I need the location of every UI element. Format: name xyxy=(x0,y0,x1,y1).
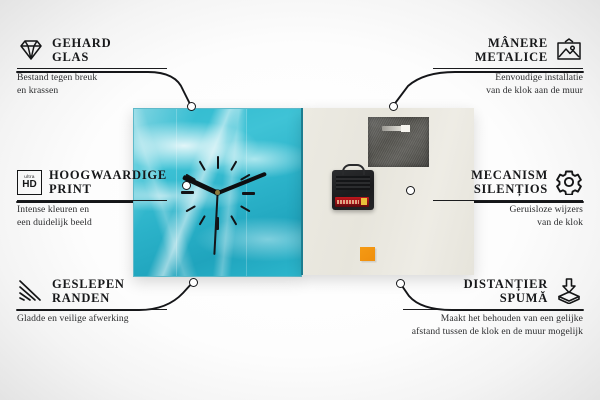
mechanism-vents xyxy=(336,176,370,190)
feature-rule xyxy=(17,68,167,70)
feature-desc: Maakt het behouden van een gelijkeafstan… xyxy=(403,313,583,338)
feather-seam xyxy=(176,109,177,276)
feature-desc: Eenvoudige installatievan de klok aan de… xyxy=(433,72,583,97)
battery xyxy=(335,197,369,207)
feature-title: GEHARDGLAS xyxy=(52,36,111,65)
feature-rule xyxy=(433,68,583,70)
battery-terminal xyxy=(361,198,367,205)
feature-title: HOOGWAARDIGEPRINT xyxy=(49,168,167,197)
feature-hoogwaardige-print: ultra HD HOOGWAARDIGEPRINT Intense kleur… xyxy=(17,168,167,229)
callout-dot xyxy=(187,102,196,111)
callout-dot xyxy=(389,102,398,111)
infographic-canvas: GEHARDGLAS Bestand tegen breuken krassen… xyxy=(0,0,600,400)
callout-dot xyxy=(189,278,198,287)
feature-desc: Gladde en veilige afwerking xyxy=(17,313,167,325)
callout-dot xyxy=(182,181,191,190)
gear-icon xyxy=(555,169,583,195)
foam-spacer xyxy=(360,247,375,261)
feature-distantier-spuma: DISTANȚIERSPUMĂ Maakt het behouden van e… xyxy=(403,277,583,338)
ultra-hd-icon: ultra HD xyxy=(17,170,42,195)
clock-mechanism xyxy=(332,170,374,210)
feature-mecanism-silentios: MECANISMSILENȚIOS Geruisloze wijzersvan … xyxy=(433,168,583,229)
feature-desc: Intense kleuren eneen duidelijk beeld xyxy=(17,204,167,229)
clock-center-pin xyxy=(215,190,220,195)
feature-rule xyxy=(17,309,167,311)
metal-hanger-icon xyxy=(368,117,429,167)
feature-rule xyxy=(403,309,583,311)
feature-geslepen-randen: GESLEPENRANDEN Gladde en veilige afwerki… xyxy=(17,277,167,326)
feature-rule xyxy=(433,200,583,202)
mechanism-hook xyxy=(342,164,365,175)
feature-title: MECANISMSILENȚIOS xyxy=(471,168,548,197)
battery-label xyxy=(337,200,359,204)
hanger-slot-highlight xyxy=(401,125,410,132)
feature-title: MÂNEREMETALICE xyxy=(475,36,548,65)
diamond-icon xyxy=(17,38,45,62)
picture-frame-icon xyxy=(555,38,583,62)
feature-rule xyxy=(17,200,167,202)
feature-manere-metalice: MÂNEREMETALICE Eenvoudige installatievan… xyxy=(433,36,583,97)
feature-gehard-glas: GEHARDGLAS Bestand tegen breuken krassen xyxy=(17,36,167,97)
spacer-arrow-icon xyxy=(555,278,583,304)
ultra-hd-icon-main: HD xyxy=(22,180,36,190)
feature-desc: Bestand tegen breuken krassen xyxy=(17,72,167,97)
feature-title: DISTANȚIERSPUMĂ xyxy=(464,277,548,306)
feature-desc: Geruisloze wijzersvan de klok xyxy=(433,204,583,229)
bevel-lines-icon xyxy=(17,279,45,303)
feature-title: GESLEPENRANDEN xyxy=(52,277,125,306)
callout-dot xyxy=(406,186,415,195)
